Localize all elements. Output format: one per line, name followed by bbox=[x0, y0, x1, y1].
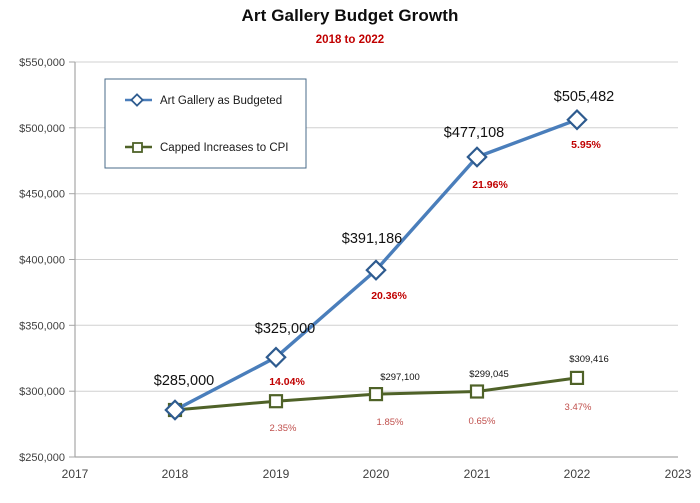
value-label-cpi-2021: $299,045 bbox=[469, 369, 509, 380]
pct-label-cpi-2020: 1.85% bbox=[377, 417, 404, 428]
x-tick-label-2021: 2021 bbox=[464, 467, 491, 481]
value-label-cpi-2022: $309,416 bbox=[569, 354, 609, 365]
chart-legend[interactable]: Art Gallery as Budgeted Capped Increases… bbox=[105, 79, 306, 168]
legend-box bbox=[105, 79, 306, 168]
legend-square-marker-icon bbox=[133, 143, 142, 152]
pct-label-budgeted-2020: 20.36% bbox=[371, 290, 407, 302]
y-tick-label-550000: $550,000 bbox=[19, 57, 65, 69]
value-label-budgeted-2021: $477,108 bbox=[444, 125, 504, 141]
pct-label-budgeted-2022: 5.95% bbox=[571, 139, 601, 151]
legend-label-cpi: Capped Increases to CPI bbox=[160, 142, 289, 154]
y-tick-label-300000: $300,000 bbox=[19, 386, 65, 398]
legend-label-budgeted: Art Gallery as Budgeted bbox=[160, 95, 282, 107]
x-tick-label-2019: 2019 bbox=[263, 467, 290, 481]
y-tick-label-250000: $250,000 bbox=[19, 452, 65, 464]
x-tick-label-2017: 2017 bbox=[62, 467, 89, 481]
x-tick-label-2018: 2018 bbox=[162, 467, 189, 481]
chart-container: Art Gallery Budget Growth 2018 to 2022 bbox=[0, 0, 700, 503]
y-tick-label-400000: $400,000 bbox=[19, 255, 65, 267]
y-tick-marks bbox=[69, 62, 75, 457]
pct-label-cpi-2022: 3.47% bbox=[565, 402, 592, 413]
value-label-cpi-2020: $297,100 bbox=[380, 372, 420, 383]
y-tick-label-350000: $350,000 bbox=[19, 320, 65, 332]
y-tick-label-500000: $500,000 bbox=[19, 123, 65, 135]
pct-label-cpi-2019: 2.35% bbox=[270, 423, 297, 434]
x-tick-label-2023: 2023 bbox=[665, 467, 692, 481]
value-label-budgeted-2018: $285,000 bbox=[154, 373, 214, 389]
x-tick-label-2022: 2022 bbox=[564, 467, 591, 481]
pct-label-budgeted-2021: 21.96% bbox=[472, 179, 508, 191]
pct-label-budgeted-2019: 14.04% bbox=[269, 376, 305, 388]
value-label-budgeted-2020: $391,186 bbox=[342, 231, 402, 247]
y-tick-label-450000: $450,000 bbox=[19, 189, 65, 201]
chart-plot-area: $550,000 $500,000 $450,000 $400,000 $350… bbox=[0, 0, 700, 503]
value-label-budgeted-2019: $325,000 bbox=[255, 321, 315, 337]
pct-label-cpi-2021: 0.65% bbox=[469, 416, 496, 427]
x-tick-label-2020: 2020 bbox=[363, 467, 390, 481]
value-label-budgeted-2022: $505,482 bbox=[554, 89, 614, 105]
